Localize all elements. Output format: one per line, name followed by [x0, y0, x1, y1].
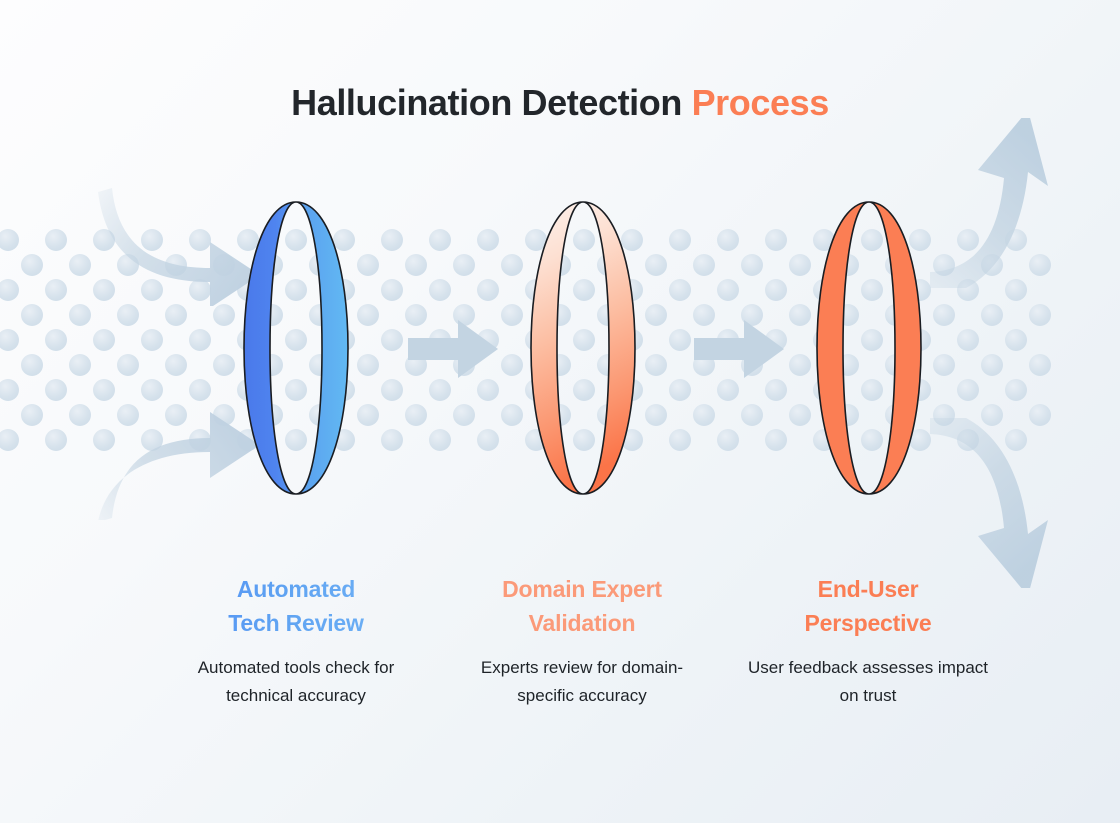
stage-ring-end-user-perspective	[813, 198, 925, 498]
stage-description: Automated tools check for technical accu…	[153, 654, 439, 710]
stage-heading: Domain Expert Validation	[439, 572, 725, 640]
stage-captions: Automated Tech Review Automated tools ch…	[0, 572, 1120, 710]
stage-heading: Automated Tech Review	[153, 572, 439, 640]
stage-heading: End-User Perspective	[725, 572, 1011, 640]
curved-arrow-down-right-icon	[930, 418, 1055, 588]
stage-column-end-user-perspective: End-User Perspective User feedback asses…	[725, 572, 1011, 710]
right-block-arrow-icon	[408, 318, 500, 380]
stage-column-domain-expert-validation: Domain Expert Validation Experts review …	[439, 572, 725, 710]
stage-description: User feedback assesses impact on trust	[725, 654, 1011, 710]
stage-ring-automated-tech-review	[240, 198, 352, 498]
stage-ring-domain-expert-validation	[527, 198, 639, 498]
stage-description: Experts review for domain-specific accur…	[439, 654, 725, 710]
right-block-arrow-icon	[694, 318, 786, 380]
stage-column-automated-tech-review: Automated Tech Review Automated tools ch…	[153, 572, 439, 710]
curved-arrow-up-right-icon	[930, 118, 1055, 288]
